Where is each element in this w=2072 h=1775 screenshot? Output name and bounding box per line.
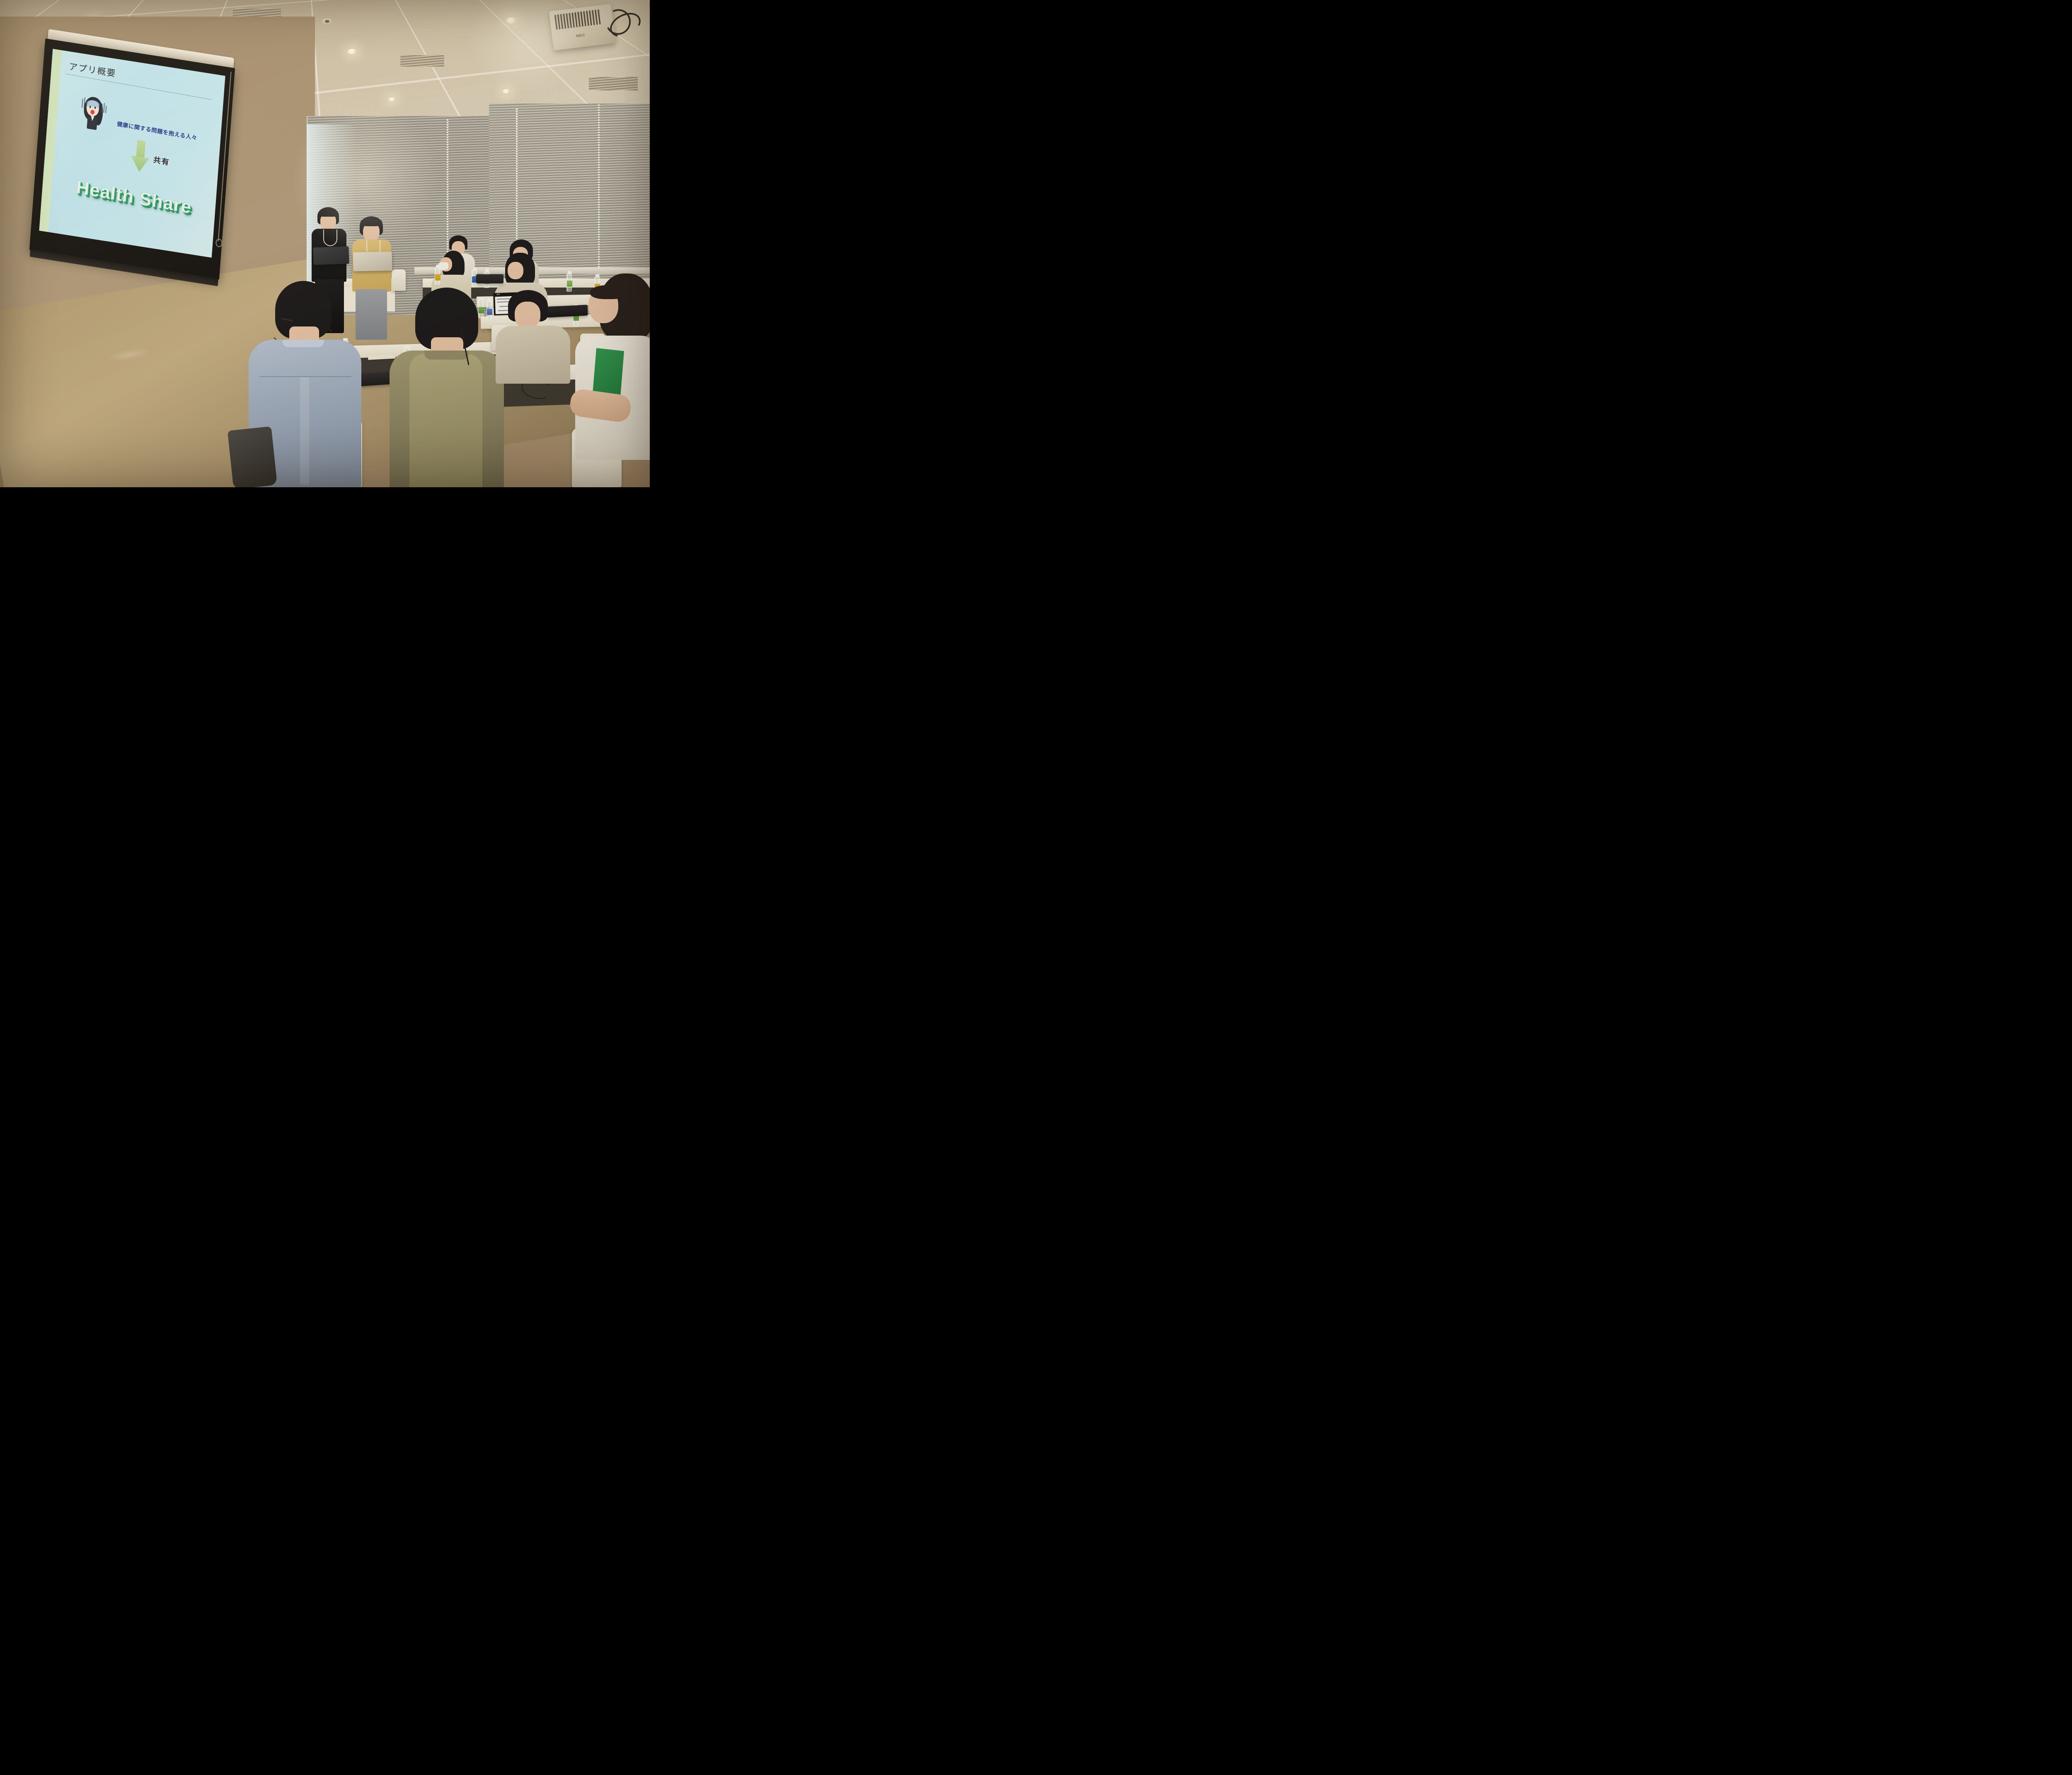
presenter-laptop-silver[interactable] bbox=[353, 251, 392, 271]
head bbox=[508, 262, 523, 279]
projection-screen: アプリ概要 健康に関する問題を抱える人々 bbox=[29, 39, 235, 280]
torso bbox=[496, 326, 570, 384]
tshirt-graphic bbox=[593, 348, 624, 398]
backpack[interactable] bbox=[228, 426, 277, 487]
downlight-4 bbox=[506, 17, 516, 24]
head bbox=[515, 302, 540, 328]
conference-room-photo: NEC アプリ概要 bbox=[0, 0, 650, 487]
person-eye-left bbox=[90, 106, 91, 108]
bottle-1[interactable] bbox=[435, 267, 440, 285]
lanyard-strap bbox=[323, 230, 337, 246]
downlight-6 bbox=[389, 97, 395, 102]
gloom-line-6 bbox=[105, 106, 107, 113]
worried-person-icon bbox=[79, 94, 107, 131]
arrow-shaft bbox=[136, 140, 145, 160]
bottle-cap bbox=[473, 268, 477, 271]
app-logo-wordmark: Health Share bbox=[63, 174, 204, 220]
bottle-cap bbox=[485, 269, 489, 272]
gloom-line-5 bbox=[103, 103, 105, 113]
projector-brand-label: NEC bbox=[576, 33, 586, 38]
bottle-label bbox=[487, 309, 492, 315]
laptop-back-right[interactable] bbox=[476, 274, 503, 283]
bottle-cap bbox=[405, 346, 410, 349]
presenter-laptop-dark[interactable] bbox=[313, 247, 349, 265]
laptop-mid-right[interactable] bbox=[547, 305, 588, 317]
downlight-5 bbox=[503, 89, 510, 94]
laptop-slide-header: 感想 bbox=[496, 293, 500, 296]
bottle-cap bbox=[568, 271, 571, 274]
vest-panel bbox=[409, 354, 482, 487]
trousers bbox=[356, 289, 387, 340]
slide-lead-text: 健康に関する問題を抱える人々 bbox=[116, 119, 197, 142]
hair-fringe bbox=[361, 218, 382, 226]
bottle-label bbox=[567, 281, 572, 287]
person-eye-right bbox=[94, 106, 96, 109]
shirt-collar bbox=[283, 340, 324, 347]
app-name-text: Health Share bbox=[63, 174, 204, 220]
slide-title: アプリ概要 bbox=[68, 60, 116, 80]
downlight-3 bbox=[348, 49, 357, 54]
arrow-head bbox=[130, 156, 149, 174]
bottle-cap bbox=[479, 297, 483, 300]
down-arrow-icon bbox=[130, 139, 150, 174]
presentation-slide: アプリ概要 健康に関する問題を抱える人々 bbox=[39, 49, 225, 258]
projector-vent bbox=[554, 10, 602, 30]
bottle-cap bbox=[488, 298, 491, 302]
gloom-line-1 bbox=[82, 99, 83, 108]
smoke-detector-icon bbox=[321, 18, 334, 25]
bottle-6[interactable] bbox=[478, 299, 484, 318]
bottle-cap bbox=[595, 274, 599, 278]
hair-fringe bbox=[590, 285, 627, 299]
chair-back-1[interactable] bbox=[392, 269, 406, 291]
shirt-center-pleat bbox=[300, 377, 309, 485]
bottle-cap bbox=[436, 265, 440, 268]
bottle-4[interactable] bbox=[566, 273, 572, 292]
collar bbox=[424, 351, 469, 360]
bottle-label bbox=[435, 274, 441, 281]
bottle-7[interactable] bbox=[487, 301, 492, 320]
air-vent-2 bbox=[400, 55, 445, 67]
air-vent-1 bbox=[588, 77, 638, 91]
slide-arrow-label: 共有 bbox=[153, 154, 170, 168]
ceiling-projector: NEC bbox=[549, 4, 615, 51]
hair-fringe bbox=[318, 210, 338, 217]
bottle-label bbox=[479, 307, 484, 313]
